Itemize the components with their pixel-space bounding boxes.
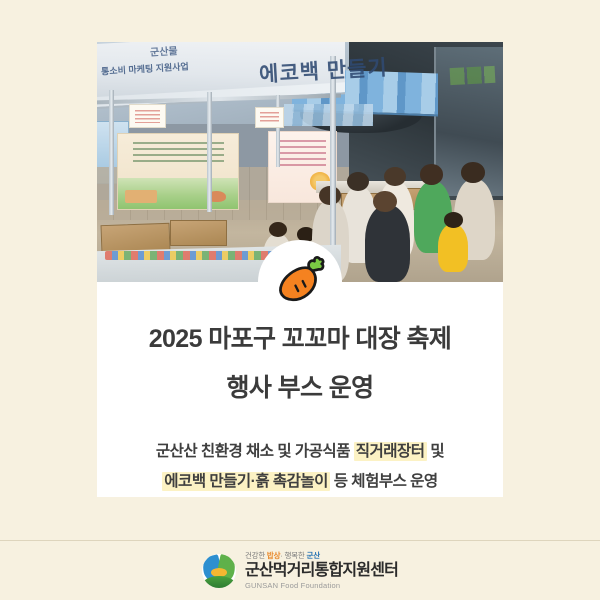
photo-hanging-sign <box>129 104 166 128</box>
photo-tent-pole <box>109 90 114 215</box>
logo-hill-shape <box>202 576 236 588</box>
footer-branding: 건강한 밥상· 행복한 군산 군산먹거리통합지원센터 GUNSAN Food F… <box>0 541 600 600</box>
footer-org-name-en: GUNSAN Food Foundation <box>245 582 398 590</box>
desc-l1-highlight: 직거래장터 <box>354 442 427 461</box>
photo-person-black-coat <box>365 205 410 282</box>
page-title-line-1: 2025 마포구 꼬꼬마 대장 축제 <box>97 324 503 354</box>
footer-tagline-2: 밥상 <box>267 551 280 560</box>
photo-blue-tents-second-row <box>284 104 373 126</box>
carrot-badge <box>258 240 342 324</box>
photo-person-head <box>347 172 369 191</box>
photo-child-yellow-jacket <box>438 224 468 272</box>
footer-tagline-4: 군산 <box>307 551 320 560</box>
promo-card: 군산물 통소비 마케팅 지원사업 에코백 만들기 2025 마포구 꼬꼬마 대장… <box>97 42 503 497</box>
footer-tagline-3: · 행복한 <box>280 551 306 560</box>
footer-tagline: 건강한 밥상· 행복한 군산 <box>245 552 398 560</box>
desc-l1-post: 및 <box>427 443 445 460</box>
footer-tagline-1: 건강한 <box>245 551 267 560</box>
photo-tent-pole <box>207 92 212 212</box>
photo-person-head <box>461 162 485 183</box>
page-title-line-2: 행사 부스 운영 <box>97 373 503 403</box>
photo-person-head <box>420 164 443 184</box>
carrot-icon <box>271 253 329 311</box>
desc-l2-post: 등 체험부스 운영 <box>330 473 438 490</box>
description-block: 군산산 친환경 채소 및 가공식품 직거래장터 및 에코백 만들기·흙 촉감놀이… <box>97 437 503 497</box>
photo-banner-top-text: 군산물 <box>149 42 177 59</box>
photo-cardboard-box <box>170 220 227 246</box>
photo-cloth-illustration <box>118 178 238 209</box>
desc-l1-pre: 군산산 친환경 채소 및 가공식품 <box>156 443 354 460</box>
description-line-1: 군산산 친환경 채소 및 가공식품 직거래장터 및 <box>97 437 503 467</box>
footer-org-name: 군산먹거리통합지원센터 <box>245 563 398 579</box>
photo-hanging-sign <box>255 107 283 129</box>
photo-tent-pole <box>330 56 336 267</box>
description-line-2: 에코백 만들기·흙 촉감놀이 등 체험부스 운영 <box>97 467 503 497</box>
logo-green-head-dot <box>224 556 231 563</box>
photo-person-head <box>384 167 406 186</box>
photo-banner-sponsor-logos <box>450 66 495 85</box>
photo-cloth-banner-illustrated <box>117 133 239 210</box>
footer-logo-text: 건강한 밥상· 행복한 군산 군산먹거리통합지원센터 GUNSAN Food F… <box>245 552 398 589</box>
gunsan-food-foundation-logo-icon <box>202 554 236 588</box>
photo-tent-pole <box>276 95 280 167</box>
desc-l2-highlight: 에코백 만들기·흙 촉감놀이 <box>162 472 330 491</box>
